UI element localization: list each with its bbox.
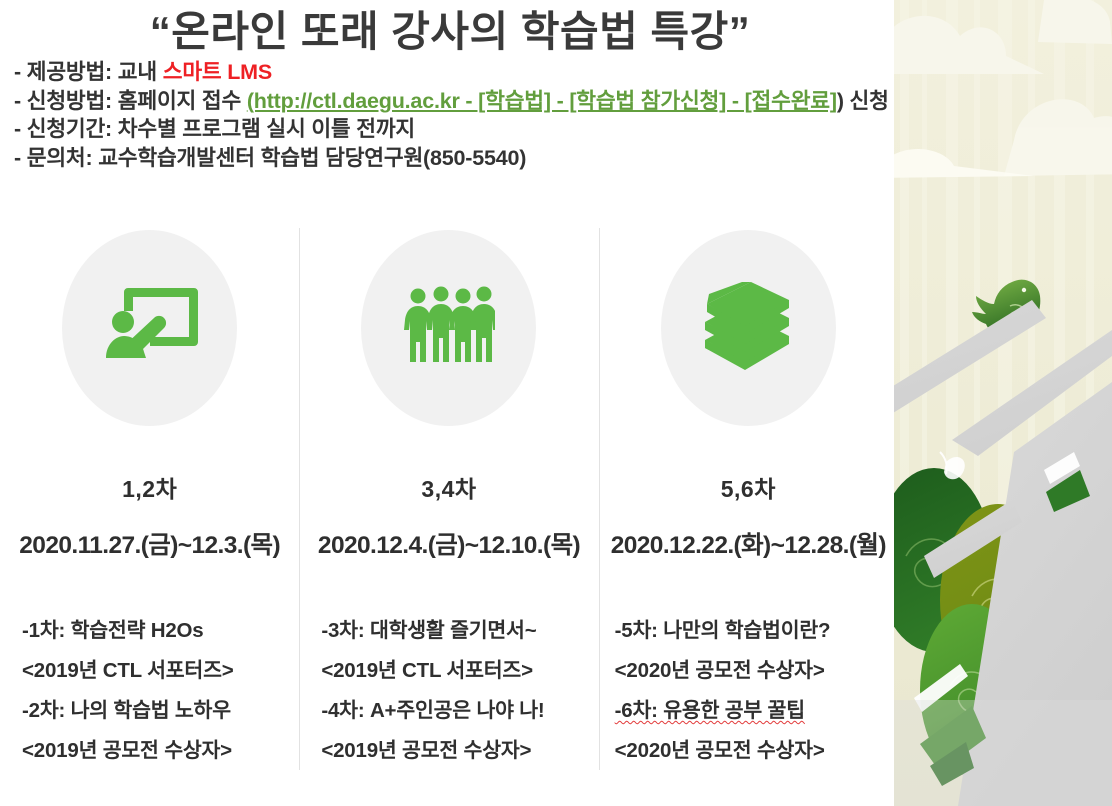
column-round-label-3: 5,6차: [721, 470, 776, 504]
ctl-homepage-link[interactable]: (http://ctl.daegu.ac.kr - [학습법] - [학습법 참…: [247, 89, 837, 113]
session-line: -5차: 나만의 학습법이란?: [615, 611, 892, 651]
info-line-application-period: - 신청기간: 차수별 프로그램 실시 이틀 전까지: [14, 115, 892, 144]
poster-slide: “온라인 또래 강사의 학습법 특강” - 제공방법: 교내 스마트 LMS -…: [0, 0, 1112, 806]
session-line: -1차: 학습전략 H2Os: [22, 611, 293, 651]
session-line: -2차: 나의 학습법 노하우: [22, 691, 293, 731]
stack-of-books-icon: [699, 282, 797, 374]
group-of-people-icon: [403, 286, 495, 370]
icon-circle-3: [661, 230, 836, 426]
session-list-3: -5차: 나만의 학습법이란? <2020년 공모전 수상자> -6차: 유용한…: [599, 611, 898, 771]
provision-method-label: - 제공방법: 교내: [14, 60, 163, 84]
info-list: - 제공방법: 교내 스마트 LMS - 신청방법: 홈페이지 접수 (http…: [0, 58, 900, 172]
smart-lms-highlight: 스마트 LMS: [163, 60, 272, 84]
session-columns: 1,2차 2020.11.27.(금)~12.3.(목) -1차: 학습전략 H…: [0, 228, 898, 788]
session-line: -6차: 유용한 공부 꿀팁: [615, 691, 892, 731]
poster-header: “온라인 또래 강사의 학습법 특강” - 제공방법: 교내 스마트 LMS -…: [0, 0, 900, 172]
session-column-3: 5,6차 2020.12.22.(화)~12.28.(월) -5차: 나만의 학…: [599, 228, 898, 788]
icon-circle-1: [62, 230, 237, 426]
session-line: <2020년 공모전 수상자>: [615, 651, 892, 691]
info-line-contact: - 문의처: 교수학습개발센터 학습법 담당연구원(850-5540): [14, 144, 892, 173]
column-date-1: 2020.11.27.(금)~12.3.(목): [19, 526, 280, 561]
session-line: <2020년 공모전 수상자>: [615, 731, 892, 771]
info-line-application-method: - 신청방법: 홈페이지 접수 (http://ctl.daegu.ac.kr …: [14, 87, 892, 116]
icon-circle-2: [361, 230, 536, 426]
application-method-tail: ) 신청: [837, 89, 889, 113]
session-line: <2019년 공모전 수상자>: [22, 731, 293, 771]
decorative-nature-artwork: [894, 0, 1112, 806]
session-line: <2019년 CTL 서포터즈>: [321, 651, 592, 691]
session-list-2: -3차: 대학생활 즐기면서~ <2019년 CTL 서포터즈> -4차: A+…: [299, 611, 598, 771]
info-line-provision-method: - 제공방법: 교내 스마트 LMS: [14, 58, 892, 87]
column-round-label-1: 1,2차: [122, 470, 177, 504]
page-title: “온라인 또래 강사의 학습법 특강”: [0, 0, 900, 56]
teacher-presentation-icon: [98, 282, 202, 374]
session-line: <2019년 공모전 수상자>: [321, 731, 592, 771]
session-column-1: 1,2차 2020.11.27.(금)~12.3.(목) -1차: 학습전략 H…: [0, 228, 299, 788]
column-date-2: 2020.12.4.(금)~12.10.(목): [318, 526, 580, 561]
session-column-2: 3,4차 2020.12.4.(금)~12.10.(목) -3차: 대학생활 즐…: [299, 228, 598, 788]
application-method-label: - 신청방법: 홈페이지 접수: [14, 89, 247, 113]
session-line: <2019년 CTL 서포터즈>: [22, 651, 293, 691]
session-list-1: -1차: 학습전략 H2Os <2019년 CTL 서포터즈> -2차: 나의 …: [0, 611, 299, 771]
session-line: -4차: A+주인공은 나야 나!: [321, 691, 592, 731]
column-round-label-2: 3,4차: [421, 470, 476, 504]
session-line-misspelled: -6차: 유용한 공부 꿀팁: [615, 699, 805, 722]
session-line: -3차: 대학생활 즐기면서~: [321, 611, 592, 651]
column-date-3: 2020.12.22.(화)~12.28.(월): [611, 526, 886, 561]
